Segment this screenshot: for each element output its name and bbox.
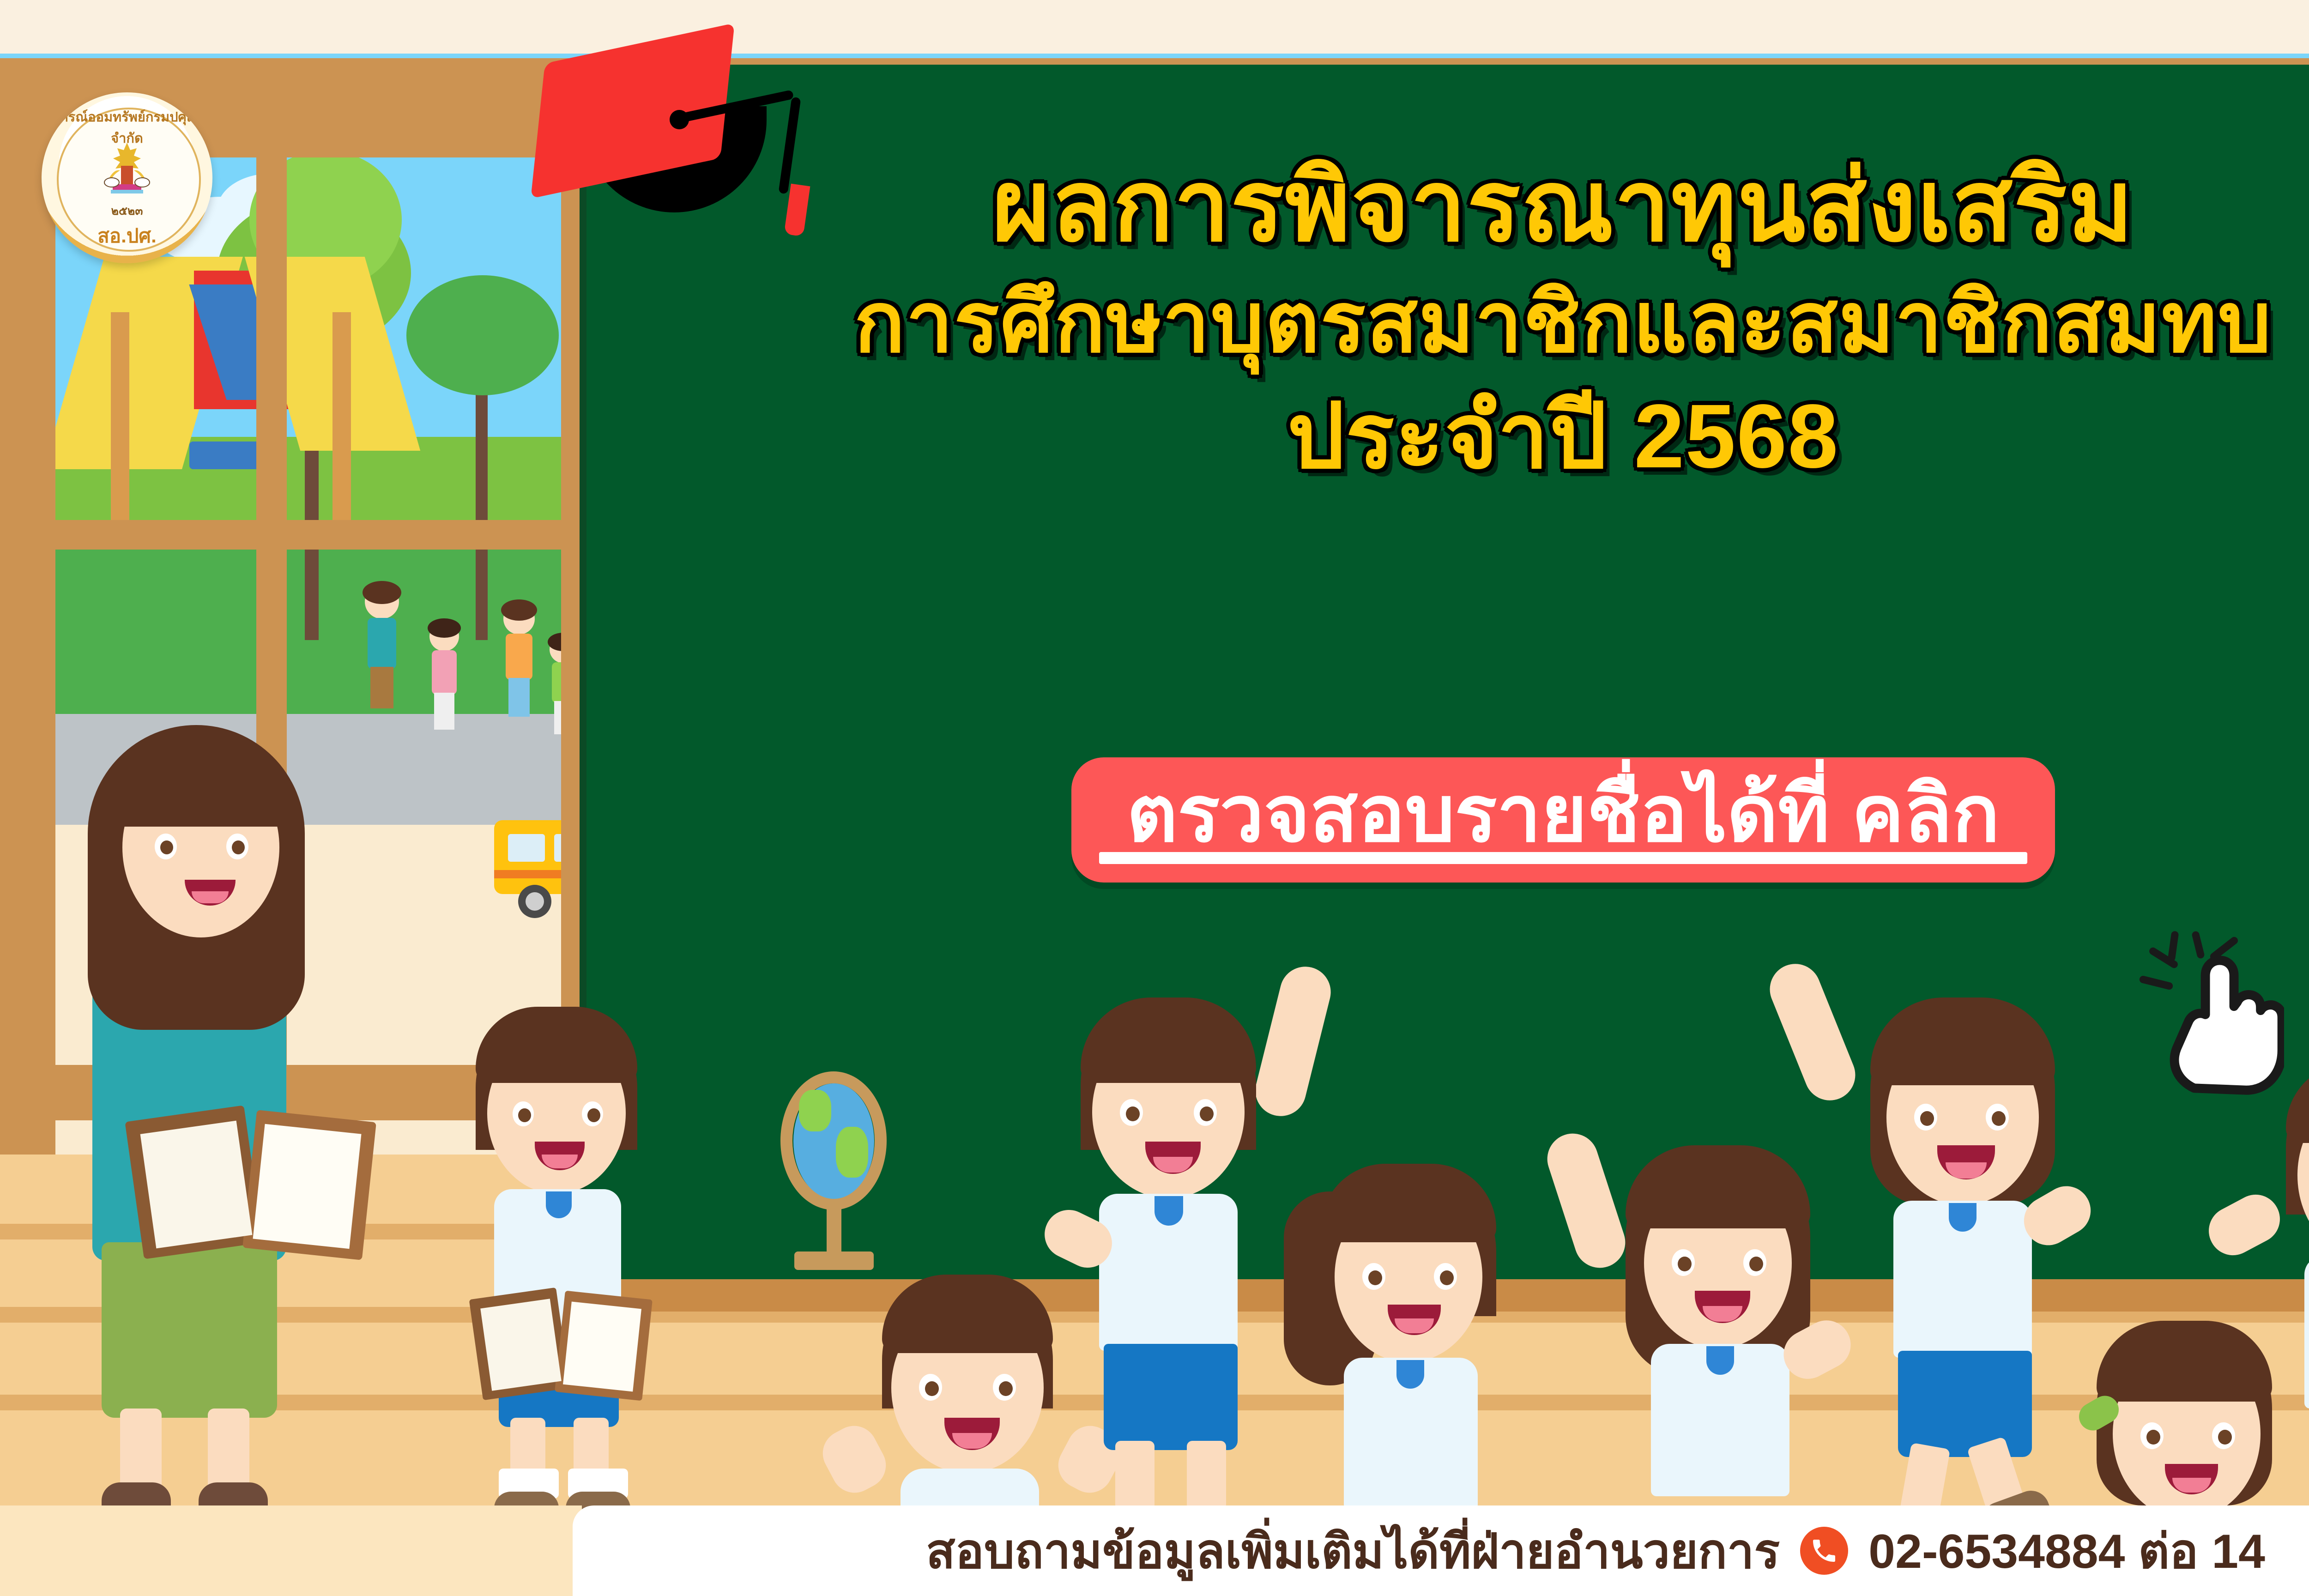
wall-top xyxy=(0,0,2309,54)
footer-phone-number: 02-6534884 ต่อ 14 xyxy=(1868,1513,2265,1589)
cooperative-logo: สหกรณ์ออมทรัพย์กรมปศุสัตว์ จำกัด ๒๕๒๓ สอ… xyxy=(42,92,212,263)
logo-founding-year: ๒๕๒๓ xyxy=(42,202,212,220)
royal-emblem-icon xyxy=(92,140,162,195)
headline-block: ผลการพิจารณาทุนส่งเสริม การศึกษาบุตรสมาช… xyxy=(586,152,2309,485)
phone-icon xyxy=(1800,1527,1848,1575)
headline-line-3: ประจำปี 2568 xyxy=(586,387,2309,485)
logo-abbreviation: สอ.ปศ. xyxy=(42,221,212,251)
sky-accent-strip xyxy=(0,54,2309,58)
book-icon xyxy=(476,1293,651,1404)
poster-root: ผลการพิจารณาทุนส่งเสริม การศึกษาบุตรสมาช… xyxy=(0,0,2309,1596)
footer-left-flank xyxy=(0,1505,582,1596)
cta-wrapper: ตรวจสอบรายชื่อได้ที่ คลิก xyxy=(586,757,2309,883)
cta-underline xyxy=(1099,852,2027,864)
tree-foliage xyxy=(406,275,559,395)
footer-contact-text: สอบถามข้อมูลเพิ่มเติมได้ที่ฝ่ายอำนวยการ xyxy=(926,1513,1780,1589)
headline-line-2: การศึกษาบุตรสมาชิกและสมาชิกสมทบ xyxy=(586,277,2309,368)
headline-line-1: ผลการพิจารณาทุนส่งเสริม xyxy=(586,152,2309,260)
check-names-button-label: ตรวจสอบรายชื่อได้ที่ คลิก xyxy=(1127,773,2000,856)
globe-icon xyxy=(757,1071,910,1279)
check-names-button[interactable]: ตรวจสอบรายชื่อได้ที่ คลิก xyxy=(1071,757,2055,883)
footer-bar: สอบถามข้อมูลเพิ่มเติมได้ที่ฝ่ายอำนวยการ … xyxy=(573,1505,2309,1596)
book-icon xyxy=(134,1113,374,1265)
playground-slide xyxy=(55,257,406,534)
teacher-left xyxy=(51,697,420,1510)
